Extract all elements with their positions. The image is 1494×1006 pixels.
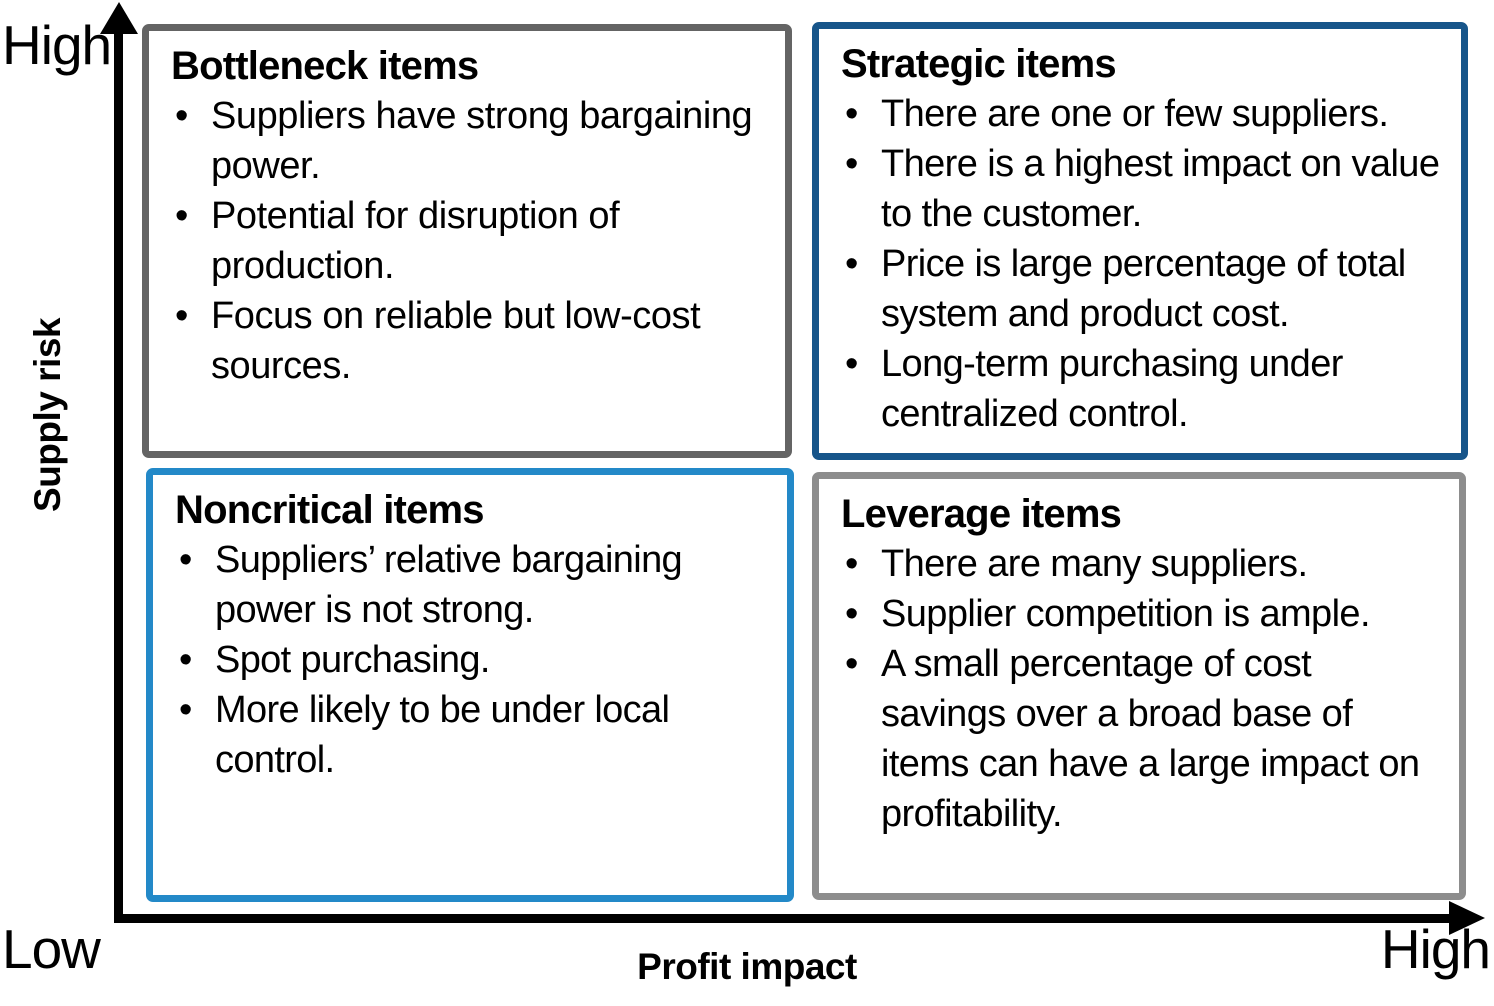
quadrant-bottleneck-title: Bottleneck items <box>171 41 771 91</box>
kraljic-matrix-diagram: High Low High Supply risk Profit impact … <box>0 0 1494 1006</box>
bullet-icon: • <box>845 339 858 389</box>
x-axis-title: Profit impact <box>0 946 1494 988</box>
list-item-text: Potential for disruption of production. <box>211 195 619 287</box>
list-item: •There are one or few suppliers. <box>841 89 1447 139</box>
quadrant-strategic-title: Strategic items <box>841 39 1447 89</box>
y-axis-title: Supply risk <box>28 305 68 525</box>
bullet-icon: • <box>175 91 188 141</box>
quadrant-bottleneck-items: Bottleneck items •Suppliers have strong … <box>142 24 792 458</box>
y-axis-high-label: High <box>2 16 111 74</box>
bullet-icon: • <box>845 139 858 189</box>
list-item: •Potential for disruption of production. <box>171 191 771 291</box>
list-item: •More likely to be under local control. <box>175 685 773 785</box>
bullet-icon: • <box>845 89 858 139</box>
list-item: •Long-term purchasing under centralized … <box>841 339 1447 439</box>
bullet-icon: • <box>845 539 858 589</box>
bullet-icon: • <box>175 291 188 341</box>
list-item: •Suppliers have strong bargaining power. <box>171 91 771 191</box>
list-item-text: Long-term purchasing under centralized c… <box>881 343 1343 435</box>
quadrant-noncritical-list: •Suppliers’ relative bargaining power is… <box>175 535 773 785</box>
list-item-text: Focus on reliable but low-cost sources. <box>211 295 700 387</box>
quadrant-bottleneck-list: •Suppliers have strong bargaining power.… <box>171 91 771 391</box>
quadrant-strategic-list: •There are one or few suppliers.•There i… <box>841 89 1447 439</box>
bullet-icon: • <box>845 589 858 639</box>
list-item: •Price is large percentage of total syst… <box>841 239 1447 339</box>
list-item-text: A small percentage of cost savings over … <box>881 643 1419 835</box>
list-item-text: There are many suppliers. <box>881 543 1307 585</box>
list-item-text: Suppliers have strong bargaining power. <box>211 95 752 187</box>
bullet-icon: • <box>179 535 192 585</box>
list-item-text: There are one or few suppliers. <box>881 93 1388 135</box>
list-item-text: Price is large percentage of total syste… <box>881 243 1406 335</box>
list-item-text: Supplier competition is ample. <box>881 593 1370 635</box>
list-item: •Suppliers’ relative bargaining power is… <box>175 535 773 635</box>
list-item-text: Spot purchasing. <box>215 639 490 681</box>
quadrant-noncritical-items: Noncritical items •Suppliers’ relative b… <box>146 468 794 902</box>
quadrant-strategic-items: Strategic items •There are one or few su… <box>812 22 1468 460</box>
list-item-text: Suppliers’ relative bargaining power is … <box>215 539 682 631</box>
bullet-icon: • <box>179 685 192 735</box>
y-axis-line <box>114 30 123 923</box>
quadrant-leverage-title: Leverage items <box>841 489 1445 539</box>
bullet-icon: • <box>845 239 858 289</box>
list-item: •A small percentage of cost savings over… <box>841 639 1445 839</box>
bullet-icon: • <box>845 639 858 689</box>
bullet-icon: • <box>179 635 192 685</box>
list-item: •There is a highest impact on value to t… <box>841 139 1447 239</box>
list-item-text: There is a highest impact on value to th… <box>881 143 1439 235</box>
list-item: •Spot purchasing. <box>175 635 773 685</box>
list-item: •Supplier competition is ample. <box>841 589 1445 639</box>
bullet-icon: • <box>175 191 188 241</box>
list-item: •There are many suppliers. <box>841 539 1445 589</box>
list-item: •Focus on reliable but low-cost sources. <box>171 291 771 391</box>
quadrant-noncritical-title: Noncritical items <box>175 485 773 535</box>
list-item-text: More likely to be under local control. <box>215 689 669 781</box>
quadrant-leverage-list: •There are many suppliers.•Supplier comp… <box>841 539 1445 839</box>
x-axis-line <box>114 914 1455 923</box>
quadrant-leverage-items: Leverage items •There are many suppliers… <box>812 472 1466 900</box>
